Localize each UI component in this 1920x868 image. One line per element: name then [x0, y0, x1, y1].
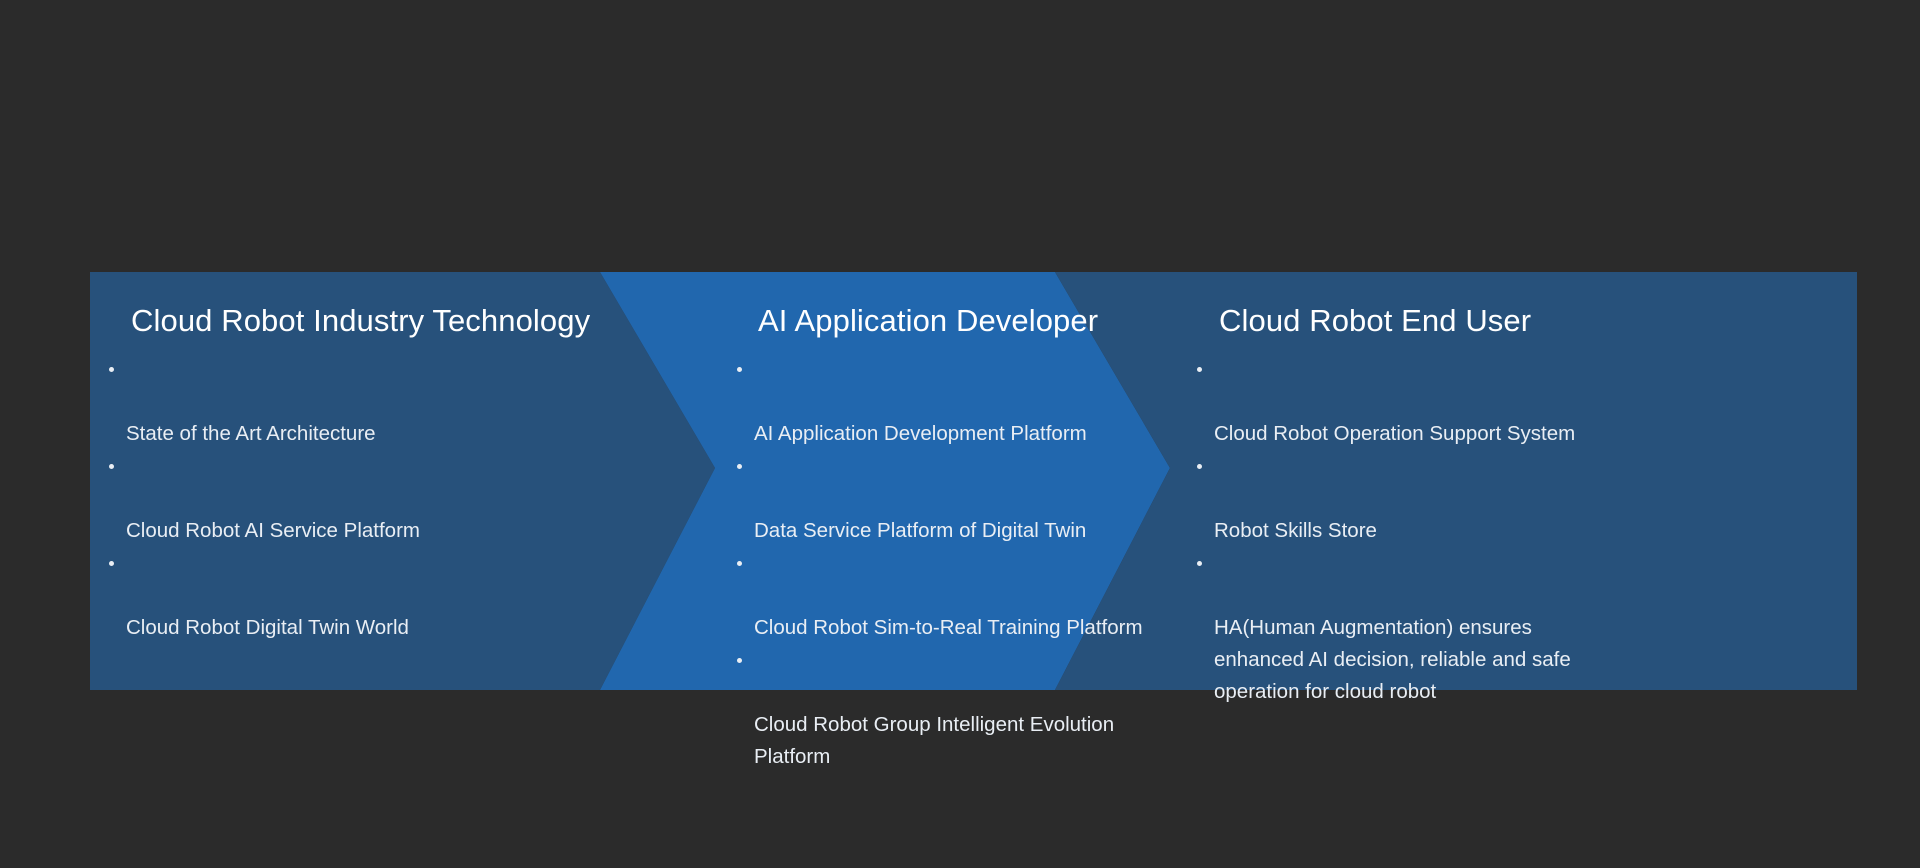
bullet-text: AI Application Development Platform — [754, 422, 1087, 445]
panel-bullets-3: Cloud Robot Operation Support System Rob… — [1196, 354, 1606, 709]
bullet-dot-icon — [737, 561, 742, 566]
slide-canvas: Cloud Robot Industry Technology State of… — [0, 0, 1920, 868]
panel-ai-application-developer: AI Application Developer AI Application … — [730, 272, 1190, 690]
bullet-dot-icon — [737, 464, 742, 469]
panel-cloud-robot-industry-technology: Cloud Robot Industry Technology State of… — [90, 272, 730, 690]
bullet-text: State of the Art Architecture — [126, 422, 376, 445]
list-item: Cloud Robot Operation Support System — [1196, 354, 1606, 450]
bullet-text: Cloud Robot Group Intelligent Evolution … — [754, 713, 1114, 768]
panel-bullets-1: State of the Art Architecture Cloud Robo… — [108, 354, 668, 645]
bullet-dot-icon — [1197, 561, 1202, 566]
list-item: Data Service Platform of Digital Twin — [736, 451, 1176, 547]
list-item: Cloud Robot Sim-to-Real Training Platfor… — [736, 548, 1176, 644]
panel-title-3: Cloud Robot End User — [1219, 304, 1531, 338]
chevron-banner: Cloud Robot Industry Technology State of… — [90, 272, 1857, 690]
bullet-dot-icon — [1197, 464, 1202, 469]
panel-title-1: Cloud Robot Industry Technology — [131, 304, 590, 338]
list-item: Robot Skills Store — [1196, 451, 1606, 547]
list-item: HA(Human Augmentation) ensures enhanced … — [1196, 548, 1606, 708]
list-item: Cloud Robot AI Service Platform — [108, 451, 668, 547]
panel-title-2: AI Application Developer — [758, 304, 1098, 338]
bullet-text: Data Service Platform of Digital Twin — [754, 519, 1086, 542]
bullet-text: Cloud Robot AI Service Platform — [126, 519, 420, 542]
bullet-dot-icon — [1197, 367, 1202, 372]
bullet-dot-icon — [737, 658, 742, 663]
bullet-dot-icon — [109, 464, 114, 469]
list-item: Cloud Robot Group Intelligent Evolution … — [736, 645, 1176, 773]
panel-bullets-2: AI Application Development Platform Data… — [736, 354, 1176, 774]
panel-cloud-robot-end-user: Cloud Robot End User Cloud Robot Operati… — [1190, 272, 1857, 690]
list-item: Cloud Robot Digital Twin World — [108, 548, 668, 644]
bullet-text: Cloud Robot Operation Support System — [1214, 422, 1575, 445]
bullet-dot-icon — [109, 561, 114, 566]
bullet-text: HA(Human Augmentation) ensures enhanced … — [1214, 616, 1571, 703]
list-item: AI Application Development Platform — [736, 354, 1176, 450]
bullet-dot-icon — [737, 367, 742, 372]
bullet-text: Cloud Robot Digital Twin World — [126, 616, 409, 639]
bullet-dot-icon — [109, 367, 114, 372]
list-item: State of the Art Architecture — [108, 354, 668, 450]
bullet-text: Robot Skills Store — [1214, 519, 1377, 542]
bullet-text: Cloud Robot Sim-to-Real Training Platfor… — [754, 616, 1143, 639]
